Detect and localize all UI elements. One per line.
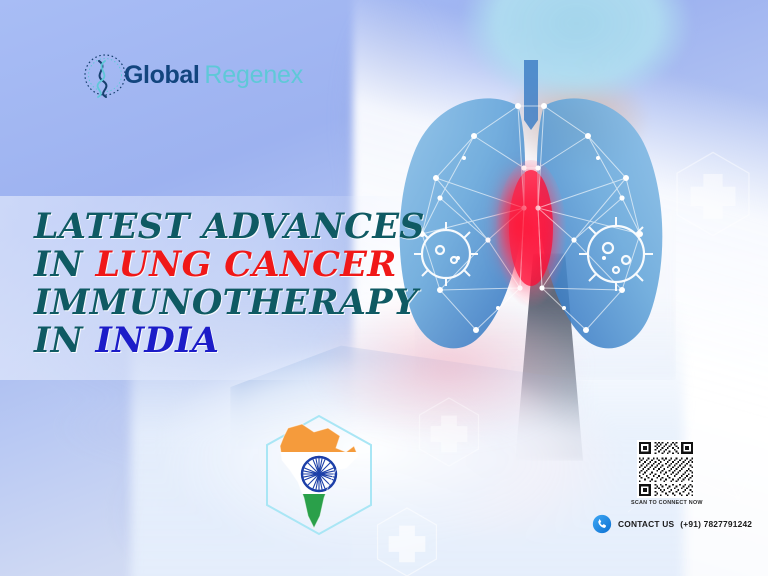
brand-logo[interactable]: Global Regenex	[82, 52, 303, 98]
page-title: LATEST ADVANCES IN LUNG CANCER IMMUNOTHE…	[34, 208, 434, 360]
medical-cross-hexagon-icon	[374, 506, 440, 576]
headline-line-1: LATEST ADVANCES	[34, 208, 434, 246]
medical-cross-hexagon-icon	[672, 150, 754, 238]
headline-text: LATEST ADVANCES	[34, 206, 425, 247]
banner-canvas: Global Regenex LATEST ADVANCES IN LUNG C…	[0, 0, 768, 576]
headline-text: IN	[34, 320, 95, 361]
brand-name-primary: Global	[124, 61, 199, 90]
phone-circle-icon	[592, 514, 612, 534]
red-tumor-glow	[485, 146, 552, 302]
qr-caption: SCAN TO CONNECT NOW	[631, 500, 701, 506]
headline-highlight-lung-cancer: LUNG CANCER	[95, 244, 396, 285]
headline-line-4: IN INDIA	[34, 322, 434, 360]
medical-cross-hexagon-icon	[416, 396, 482, 468]
contact-cta[interactable]: CONTACT US (+91) 7827791242	[592, 514, 752, 534]
qr-cta-block[interactable]: SCAN TO CONNECT NOW	[631, 440, 701, 506]
brand-wordmark: Global Regenex	[124, 61, 303, 90]
headline-text: IN	[34, 244, 95, 285]
headline-text: IMMUNOTHERAPY	[34, 282, 418, 323]
qr-code-icon[interactable]	[633, 440, 699, 498]
contact-number: (+91) 7827791242	[680, 519, 752, 529]
dna-circle-icon	[82, 52, 128, 98]
brand-name-secondary: Regenex	[204, 61, 303, 90]
headline-line-2: IN LUNG CANCER	[34, 246, 434, 284]
headline-line-3: IMMUNOTHERAPY	[34, 284, 434, 322]
contact-label: CONTACT US	[618, 519, 674, 529]
headline-highlight-india: INDIA	[95, 320, 219, 361]
india-flag-map-icon	[258, 412, 380, 538]
